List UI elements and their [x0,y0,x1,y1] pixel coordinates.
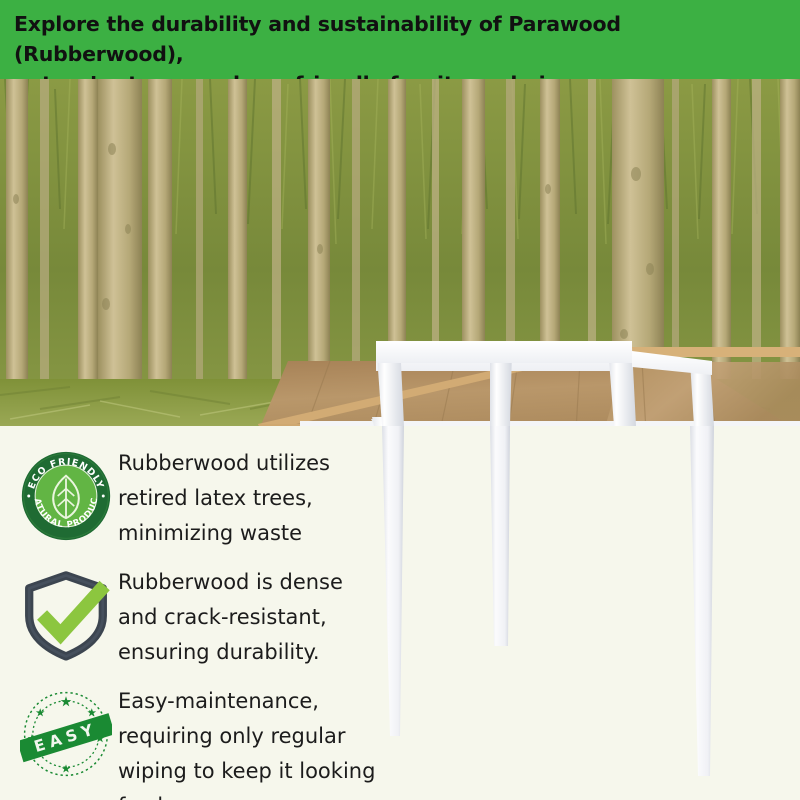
product-photo [0,79,800,426]
header-banner: Explore the durability and sustainabilit… [0,0,800,79]
feature-text-easy-maintenance: Easy-maintenance, requiring only regular… [118,670,460,800]
feature-item-easy-maintenance: EASY Easy-maintenance, requiring only re… [0,670,800,800]
infographic-page: Explore the durability and sustainabilit… [0,0,800,800]
table-structure-overlay [0,79,800,426]
easy-stamp-label: EASY [32,719,100,756]
shield-check-icon [20,569,112,661]
feature-icon-slot: EASY [14,670,118,780]
easy-stamp-icon: EASY [20,688,112,780]
feature-item-eco-friendly: ECO FRIENDLY NATURAL PRODUCT Rubberwood … [0,432,800,551]
feature-icon-slot: ECO FRIENDLY NATURAL PRODUCT [14,432,118,542]
feature-item-durability: Rubberwood is dense and crack-resistant,… [0,551,800,670]
feature-icon-slot [14,551,118,661]
feature-text-eco-friendly: Rubberwood utilizes retired latex trees,… [118,432,430,551]
feature-text-durability: Rubberwood is dense and crack-resistant,… [118,551,430,670]
eco-friendly-seal-icon: ECO FRIENDLY NATURAL PRODUCT [20,450,112,542]
feature-list: ECO FRIENDLY NATURAL PRODUCT Rubberwood … [0,432,800,800]
